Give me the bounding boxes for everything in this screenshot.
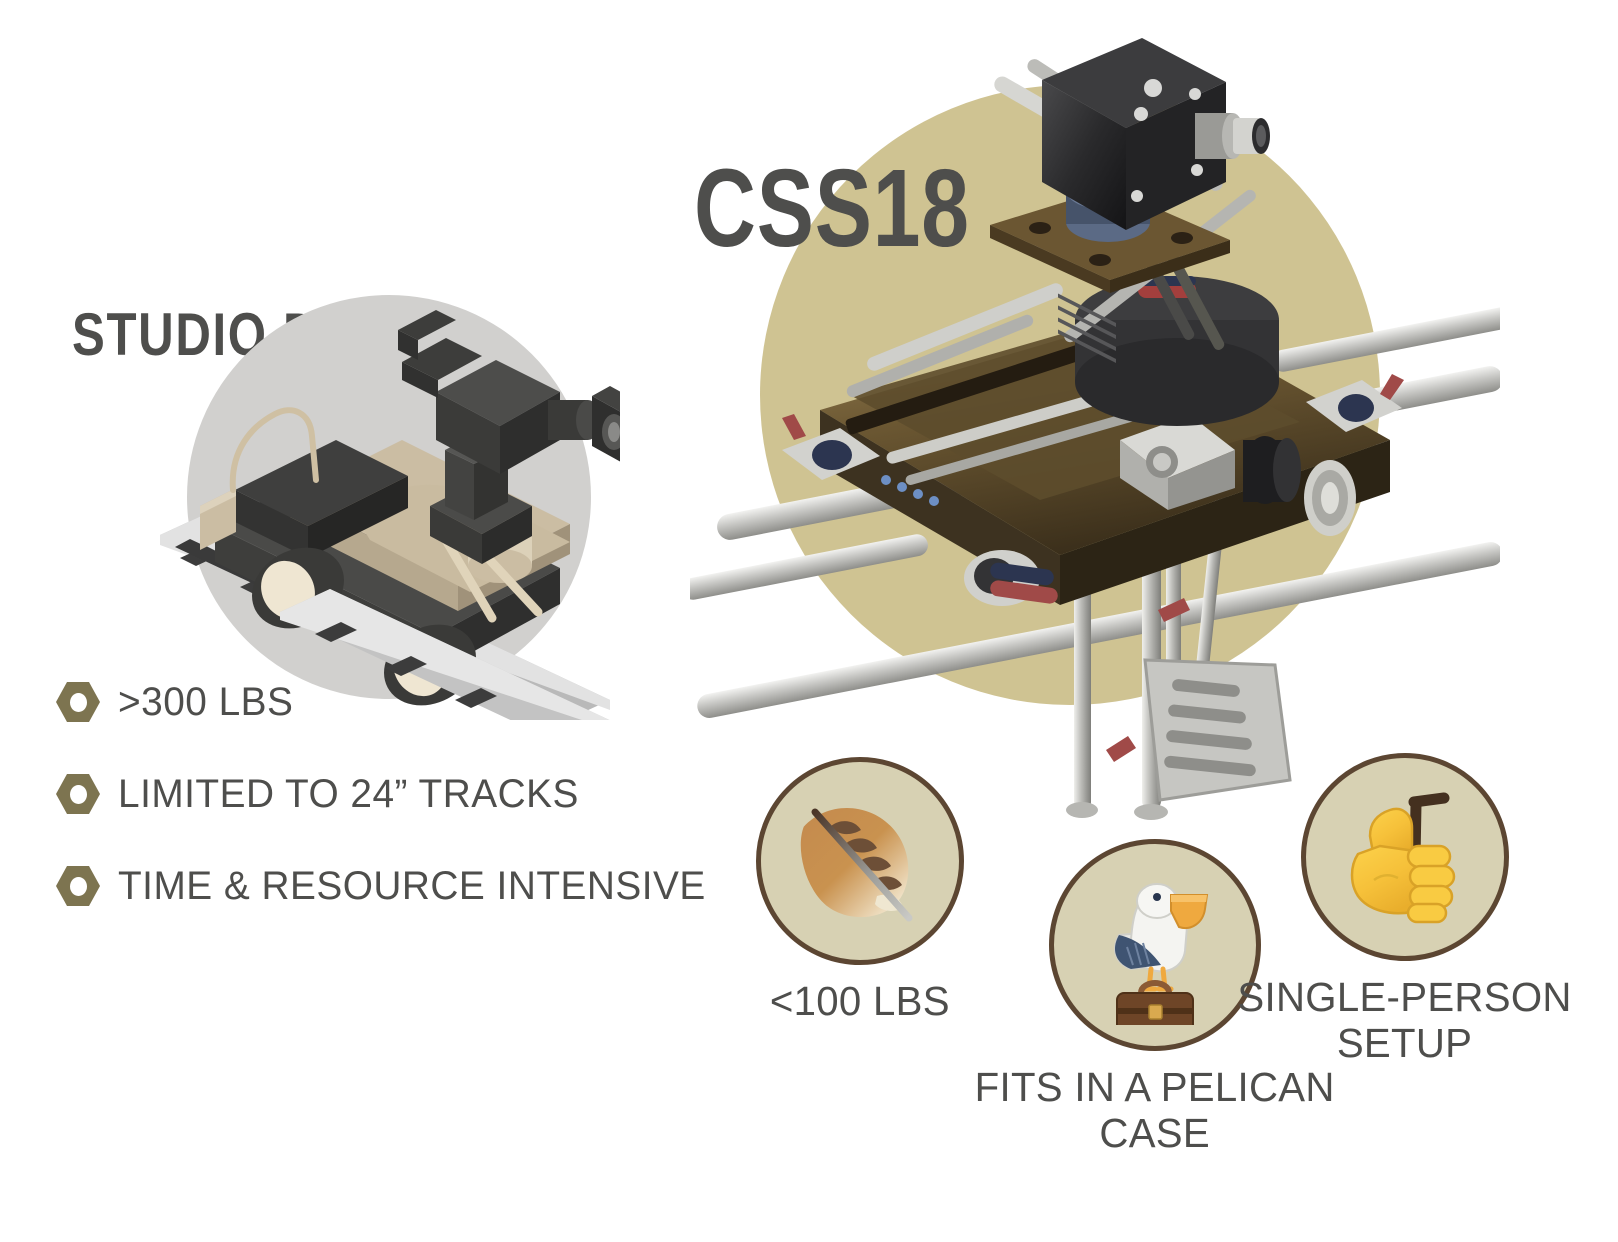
rig-rail-rear-left: [690, 532, 930, 601]
feature-circle-setup: [1301, 753, 1509, 961]
studio-dolly-illustration: [140, 300, 620, 720]
hex-nut-icon: [56, 774, 100, 814]
thumbs-up-allen-key-icon: [1328, 780, 1483, 935]
feature-caption: <100 LBS: [770, 979, 950, 1025]
feature-circle-weight: [756, 757, 964, 965]
css18-title: CSS18: [694, 145, 970, 272]
rig-camera-lens: [1195, 113, 1270, 159]
dolly-camera-head: [398, 310, 620, 564]
studio-dolly-drawbacks-list: >300 LBS LIMITED TO 24” TRACKS TIME & RE…: [56, 678, 696, 954]
feature-caption: FITS IN A PELICAN CASE: [975, 1065, 1335, 1157]
list-item: >300 LBS: [56, 678, 696, 726]
hex-nut-icon: [56, 682, 100, 722]
hex-nut-icon: [56, 866, 100, 906]
infographic-slide: STUDIO DOLLY CSS18 >300 LBS LIMITED TO 2…: [0, 0, 1618, 1242]
list-item: TIME & RESOURCE INTENSIVE: [56, 862, 696, 910]
list-item: LIMITED TO 24” TRACKS: [56, 770, 696, 818]
pelican-briefcase-icon: [1075, 865, 1235, 1025]
feather-icon: [785, 786, 935, 936]
bullet-label: >300 LBS: [118, 680, 293, 725]
feature-caption: SINGLE-PERSON SETUP: [1238, 975, 1572, 1067]
css18-rig-illustration: [690, 10, 1500, 840]
rig-rail-rear-right: [1270, 304, 1500, 373]
rig-drum-disc: [1075, 276, 1279, 426]
feature-single-person-setup: SINGLE-PERSON SETUP: [1215, 753, 1595, 1067]
bullet-label: TIME & RESOURCE INTENSIVE: [118, 864, 706, 909]
bullet-label: LIMITED TO 24” TRACKS: [118, 772, 579, 817]
